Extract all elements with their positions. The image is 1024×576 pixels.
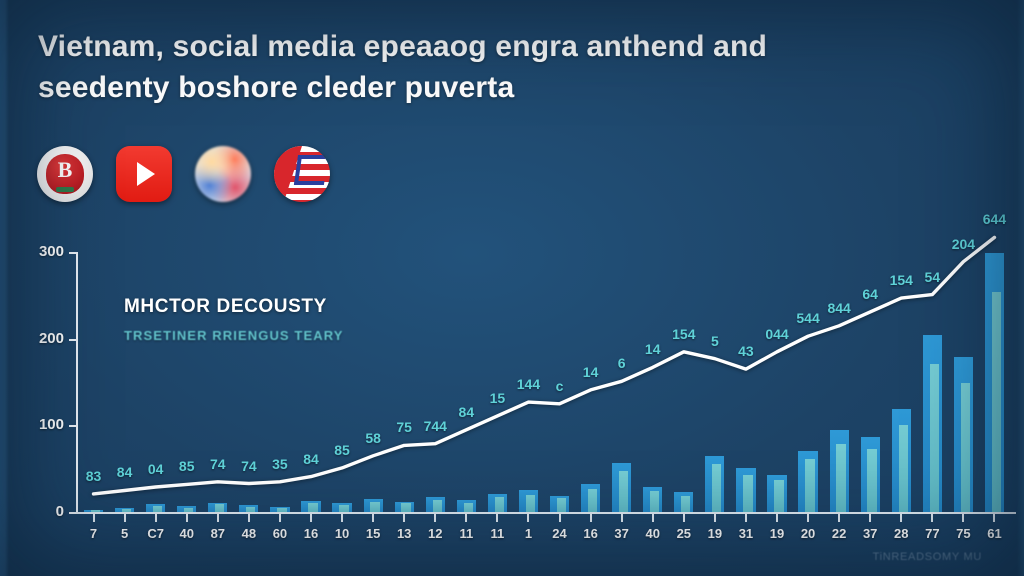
x-tick: [279, 514, 281, 522]
x-tick-label: 19: [770, 526, 784, 541]
x-tick-label: 1: [525, 526, 532, 541]
data-point-label: 14: [583, 364, 599, 380]
x-tick: [714, 514, 716, 522]
bar-teal[interactable]: [836, 444, 845, 513]
x-tick-label: 16: [304, 526, 318, 541]
bar-teal[interactable]: [619, 471, 628, 513]
x-tick: [434, 514, 436, 522]
x-tick-label: 60: [273, 526, 287, 541]
x-tick-label: 28: [894, 526, 908, 541]
x-tick: [559, 514, 561, 522]
bar-teal[interactable]: [650, 491, 659, 513]
data-point-label: 154: [672, 326, 695, 342]
bar-teal[interactable]: [961, 383, 970, 513]
x-tick-label: 10: [335, 526, 349, 541]
y-tick-label: 100: [18, 416, 64, 433]
data-point-label: 204: [952, 236, 975, 252]
data-point-label: 844: [827, 300, 850, 316]
bar-teal[interactable]: [992, 292, 1001, 513]
bar-teal[interactable]: [774, 480, 783, 513]
x-tick-label: 61: [987, 526, 1001, 541]
data-point-label: 84: [459, 404, 475, 420]
x-tick-label: 11: [459, 526, 473, 541]
data-point-label: 544: [796, 310, 819, 326]
x-tick-label: 75: [956, 526, 970, 541]
x-tick: [372, 514, 374, 522]
x-tick: [217, 514, 219, 522]
data-point-label: 85: [334, 442, 350, 458]
x-tick: [683, 514, 685, 522]
data-point-label: 5: [711, 333, 719, 349]
data-point-label: 14: [645, 341, 661, 357]
bar-teal[interactable]: [495, 497, 504, 513]
x-tick-label: 15: [366, 526, 380, 541]
x-tick-label: 48: [242, 526, 256, 541]
data-point-label: 74: [241, 458, 257, 474]
y-tick-label: 300: [18, 243, 64, 260]
x-tick-label: 11: [491, 526, 505, 541]
data-point-label: 64: [862, 286, 878, 302]
x-tick: [621, 514, 623, 522]
data-point-label: 83: [86, 468, 102, 484]
x-tick: [527, 514, 529, 522]
data-point-label: 54: [925, 269, 941, 285]
x-tick: [248, 514, 250, 522]
bar-teal[interactable]: [867, 449, 876, 513]
data-point-label: 35: [272, 456, 288, 472]
x-tick-label: 37: [614, 526, 628, 541]
x-tick-label: 40: [179, 526, 193, 541]
bar-teal[interactable]: [743, 475, 752, 513]
x-tick-label: C7: [147, 526, 164, 541]
x-tick: [465, 514, 467, 522]
data-point-label: 144: [517, 376, 540, 392]
chart-canvas: 83840485747435848558757448415144c1461415…: [0, 0, 1024, 576]
x-tick: [590, 514, 592, 522]
x-tick: [93, 514, 95, 522]
watermark: TiNREADSOMY MU: [873, 551, 982, 563]
x-tick: [124, 514, 126, 522]
y-tick-label: 200: [18, 330, 64, 347]
data-point-label: 744: [424, 418, 447, 434]
x-tick: [931, 514, 933, 522]
bar-teal[interactable]: [681, 496, 690, 513]
x-tick: [155, 514, 157, 522]
data-point-label: 85: [179, 458, 195, 474]
x-tick-label: 19: [708, 526, 722, 541]
y-tick-label: 0: [18, 503, 64, 520]
x-tick: [962, 514, 964, 522]
data-point-label: 644: [983, 211, 1006, 227]
data-point-label: 58: [365, 430, 381, 446]
data-point-label: 43: [738, 343, 754, 359]
y-tick: [69, 252, 78, 254]
x-tick: [776, 514, 778, 522]
data-point-label: 75: [396, 419, 412, 435]
x-tick-label: 77: [925, 526, 939, 541]
data-point-label: 044: [765, 326, 788, 342]
annotation-subtitle: TRSETINER RRIENGUS TEARY: [124, 328, 344, 343]
data-point-label: 84: [117, 464, 133, 480]
x-tick-label: 7: [90, 526, 97, 541]
data-point-label: 6: [618, 355, 626, 371]
x-tick-label: 5: [121, 526, 128, 541]
x-tick-label: 87: [211, 526, 225, 541]
x-tick-label: 40: [645, 526, 659, 541]
x-tick-label: 13: [397, 526, 411, 541]
x-tick: [186, 514, 188, 522]
data-point-label: c: [556, 378, 564, 394]
y-tick: [69, 339, 78, 341]
data-point-label: 15: [490, 390, 506, 406]
bar-teal[interactable]: [526, 495, 535, 513]
x-tick-label: 24: [552, 526, 566, 541]
x-tick: [838, 514, 840, 522]
x-tick: [807, 514, 809, 522]
bar-teal[interactable]: [899, 425, 908, 513]
data-point-label: 154: [890, 272, 913, 288]
x-tick: [403, 514, 405, 522]
x-tick: [310, 514, 312, 522]
x-tick: [652, 514, 654, 522]
x-tick: [745, 514, 747, 522]
x-tick: [993, 514, 995, 522]
chart-annotation: MHCTOR DECOUSTY TRSETINER RRIENGUS TEARY: [124, 296, 344, 343]
bar-teal[interactable]: [805, 459, 814, 513]
x-tick-label: 16: [583, 526, 597, 541]
x-tick: [869, 514, 871, 522]
x-tick-label: 12: [428, 526, 442, 541]
x-tick-label: 22: [832, 526, 846, 541]
x-tick-label: 25: [677, 526, 691, 541]
data-point-label: 84: [303, 451, 319, 467]
chart-screenshot: Vietnam, social media epeaaog engra anth…: [0, 0, 1024, 576]
y-axis-line: [76, 253, 78, 514]
bar-teal[interactable]: [557, 498, 566, 513]
data-point-label: 04: [148, 461, 164, 477]
data-point-label: 74: [210, 456, 226, 472]
x-tick-label: 20: [801, 526, 815, 541]
x-tick-label: 37: [863, 526, 877, 541]
x-tick: [496, 514, 498, 522]
x-tick: [900, 514, 902, 522]
bar-teal[interactable]: [712, 464, 721, 513]
bar-teal[interactable]: [588, 489, 597, 513]
x-tick: [341, 514, 343, 522]
y-tick: [69, 425, 78, 427]
x-tick-label: 31: [739, 526, 753, 541]
trend-line-path: [94, 237, 995, 494]
annotation-title: MHCTOR DECOUSTY: [124, 296, 344, 318]
bar-teal[interactable]: [930, 364, 939, 513]
